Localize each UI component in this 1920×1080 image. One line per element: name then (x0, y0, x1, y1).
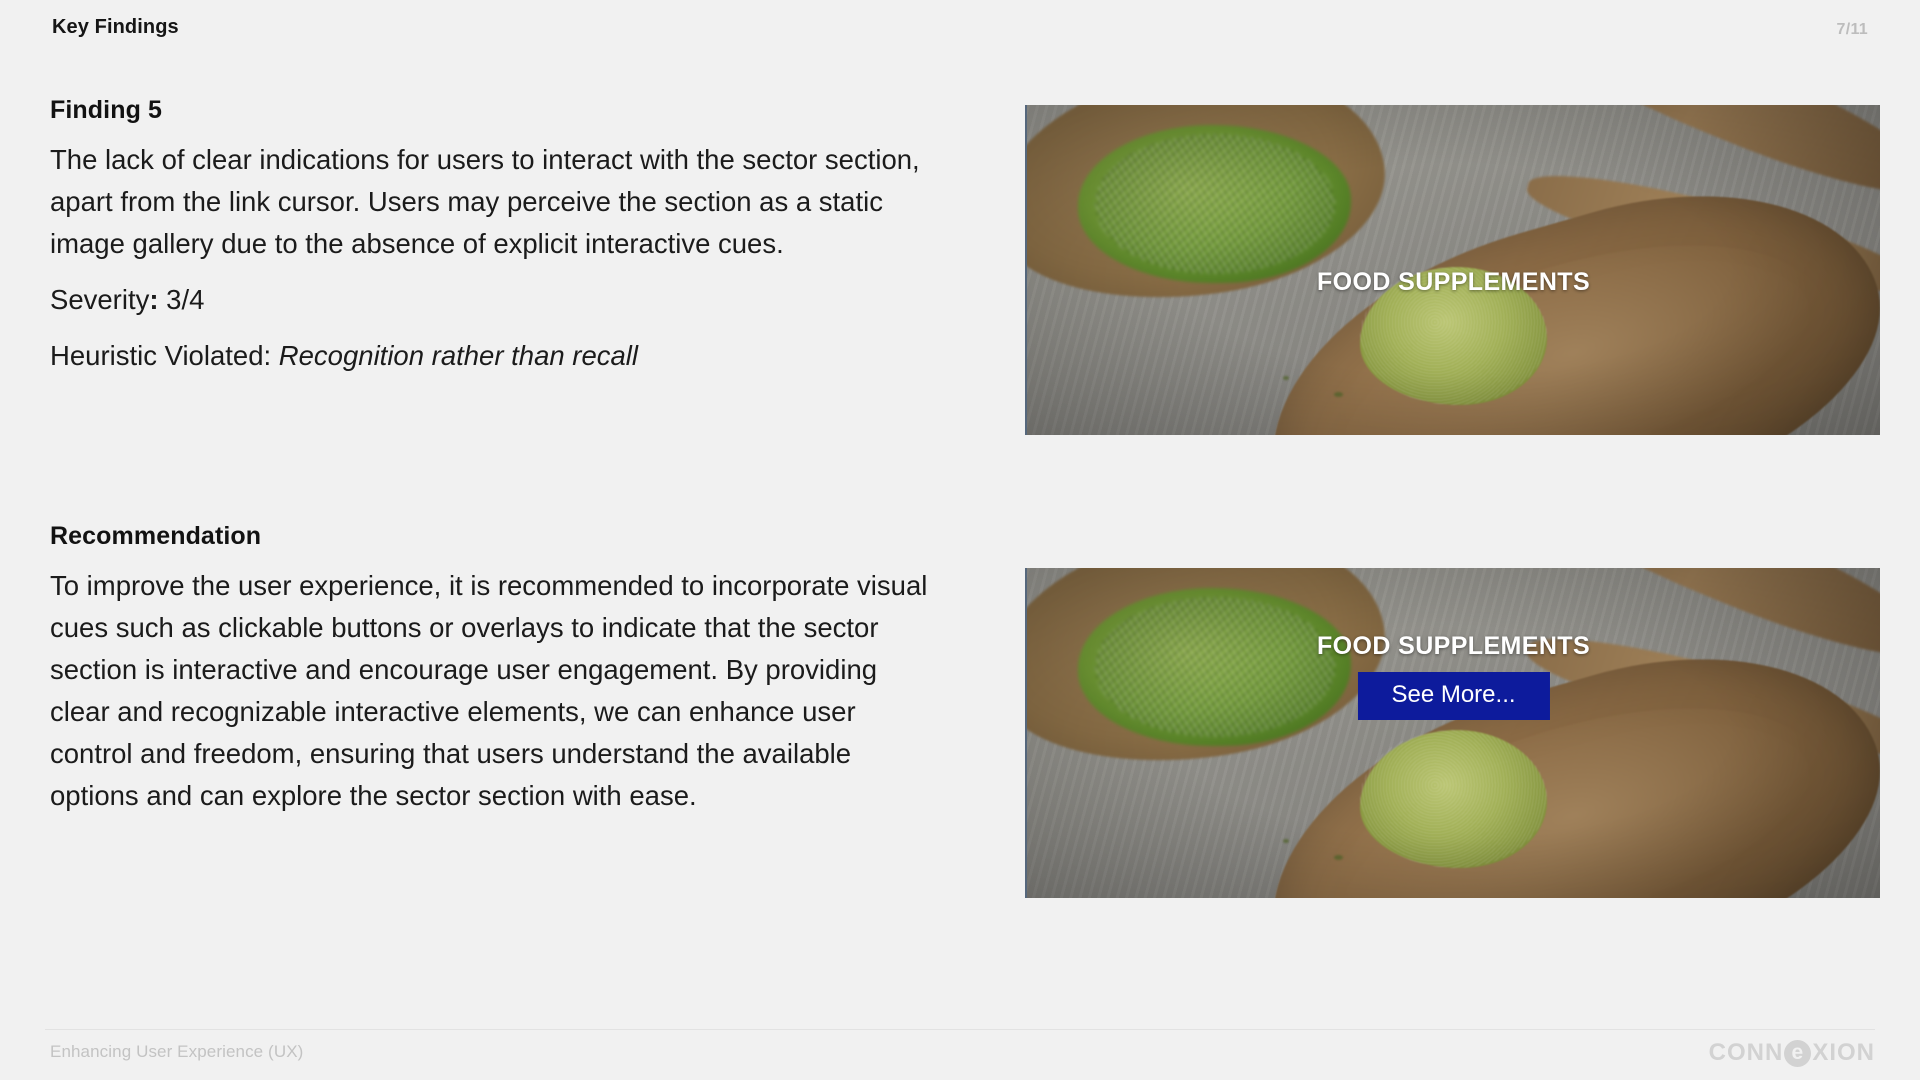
page-title: Key Findings (52, 16, 1868, 39)
footer-note: Enhancing User Experience (UX) (50, 1042, 303, 1062)
recommendation-section: Recommendation To improve the user exper… (50, 522, 930, 817)
logo-text-left: CONN (1709, 1039, 1784, 1067)
recommendation-heading: Recommendation (50, 522, 930, 551)
connexion-logo: CONN e XION (1709, 1039, 1875, 1067)
severity-line: Severity: 3/4 (50, 279, 930, 321)
after-screenshot-card: FOOD SUPPLEMENTS See More... (1025, 568, 1880, 898)
finding-body: The lack of clear indications for users … (50, 139, 930, 265)
finding-section: Finding 5 The lack of clear indications … (50, 96, 930, 377)
photo-vignette (1027, 568, 1880, 898)
page-indicator: 7/11 (1837, 21, 1868, 39)
severity-label: Severity: (50, 284, 159, 315)
logo-circle-e-icon: e (1784, 1040, 1811, 1067)
food-supplements-photo (1027, 568, 1880, 898)
severity-value: 3/4 (159, 284, 205, 315)
before-screenshot-card: FOOD SUPPLEMENTS (1025, 105, 1880, 435)
heuristic-label: Heuristic Violated: (50, 340, 279, 371)
heuristic-line: Heuristic Violated: Recognition rather t… (50, 335, 930, 377)
see-more-button[interactable]: See More... (1357, 672, 1549, 720)
severity-colon: : (149, 284, 158, 315)
footer-divider (45, 1029, 1875, 1030)
finding-heading: Finding 5 (50, 96, 930, 125)
recommendation-body: To improve the user experience, it is re… (50, 565, 930, 817)
photo-caption: FOOD SUPPLEMENTS (1027, 632, 1880, 661)
slide-header: Key Findings 7/11 (52, 16, 1868, 56)
logo-text-right: XION (1812, 1039, 1875, 1067)
photo-caption: FOOD SUPPLEMENTS (1027, 268, 1880, 297)
heuristic-value: Recognition rather than recall (279, 340, 638, 371)
slide: Key Findings 7/11 Finding 5 The lack of … (0, 0, 1920, 1080)
